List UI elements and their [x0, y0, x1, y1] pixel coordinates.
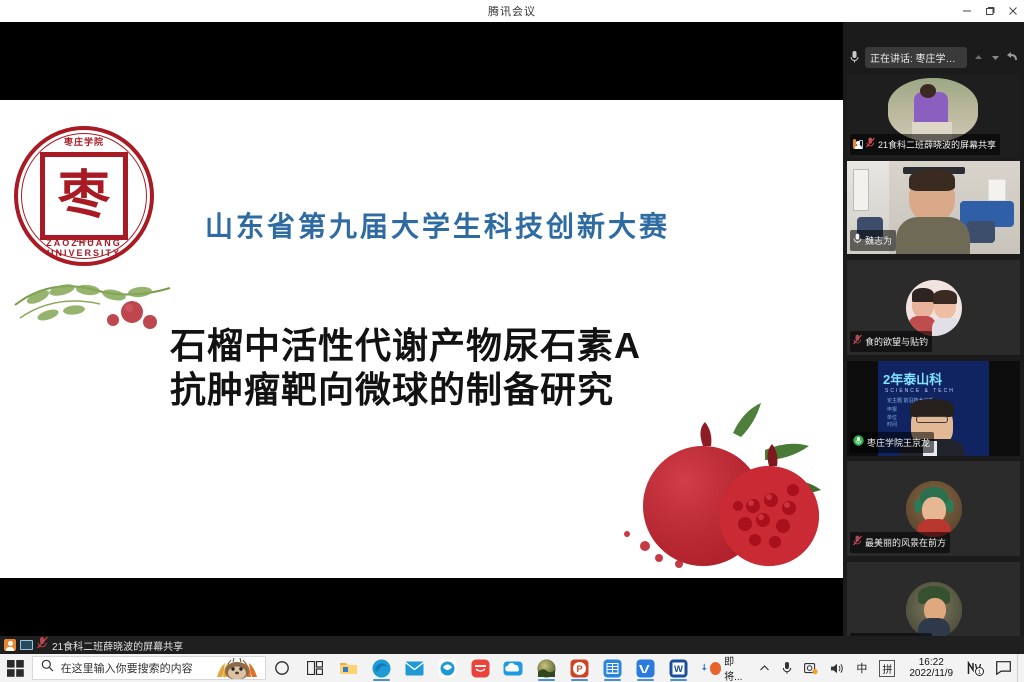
logo-text-top: 枣庄学院	[14, 135, 154, 148]
download-text: 即将...	[724, 653, 747, 682]
search-input[interactable]: 在这里输入你要搜索的内容	[32, 656, 266, 680]
ime-pinyin-label: 拼	[879, 660, 895, 677]
system-tray: 即将... 中 拼 16:22 2022/11/9 1	[695, 654, 1024, 682]
mic-icon	[847, 49, 861, 65]
minimize-button[interactable]	[955, 0, 978, 22]
task-view-icon[interactable]	[266, 654, 299, 682]
screenshot-icon[interactable]	[798, 654, 824, 682]
slide-title-line1: 石榴中活性代谢产物尿石素A	[170, 324, 820, 368]
participant-tile[interactable]: 魏志为	[847, 161, 1020, 254]
word-icon[interactable]: W	[662, 654, 695, 682]
participant-tile[interactable]: 21食科二班薛晓波的屏幕共享	[847, 74, 1020, 158]
undo-arrow-icon[interactable]	[1005, 49, 1020, 65]
mic-muted-icon	[37, 636, 48, 654]
clock[interactable]: 16:22 2022/11/9	[901, 657, 961, 680]
tile-label: 食的欲望与贴钓	[850, 331, 932, 352]
window-titlebar: 腾讯会议	[0, 0, 1024, 22]
powerpoint-icon[interactable]: P	[563, 654, 596, 682]
mic-active-icon	[853, 433, 864, 451]
file-explorer-icon[interactable]	[332, 654, 365, 682]
widgets-icon[interactable]	[299, 654, 332, 682]
wps-office-icon[interactable]	[464, 654, 497, 682]
university-logo-icon: 枣庄学院 枣 1971 ZAOZHUANG UNIVERSITY	[14, 126, 154, 266]
user-icon	[4, 639, 16, 651]
start-button[interactable]	[0, 654, 32, 682]
ime-mode-indicator[interactable]: 中	[850, 654, 873, 682]
tile-name: 枣庄学院王京龙	[867, 436, 930, 449]
search-mascot-icon	[215, 656, 259, 680]
wreath-decoration-icon	[10, 260, 175, 340]
participant-rail: 正在讲话: 枣庄学院王京龙	[843, 22, 1024, 636]
taskbar: 在这里输入你要搜索的内容	[0, 654, 1024, 682]
svg-text:W: W	[674, 664, 683, 675]
meeting-window: 枣庄学院 枣 1971 ZAOZHUANG UNIVERSITY	[0, 22, 1024, 636]
active-speaker-label: 正在讲话: 枣庄学院王京龙	[865, 47, 967, 68]
excel-icon[interactable]	[596, 654, 629, 682]
tile-label: 枣庄学院王京龙	[850, 432, 934, 453]
avatar	[906, 280, 962, 336]
mic-icon	[853, 231, 862, 249]
active-speaker-bar: 正在讲话: 枣庄学院王京龙	[843, 44, 1024, 70]
logo-glyph: 枣	[58, 170, 110, 222]
download-arrow-icon	[701, 662, 708, 674]
microsoft-edge-icon[interactable]	[365, 654, 398, 682]
slide-subtitle: 山东省第九届大学生科技创新大赛	[205, 205, 805, 245]
download-badge-icon	[710, 662, 721, 675]
avatar	[906, 481, 962, 537]
clock-time: 16:22	[909, 657, 953, 669]
mic-muted-icon	[853, 533, 862, 551]
mail-icon[interactable]	[398, 654, 431, 682]
avatar	[906, 582, 962, 637]
rail-nav-controls	[971, 49, 1020, 65]
show-desktop-button[interactable]	[1017, 654, 1024, 682]
clock-date: 2022/11/9	[909, 668, 953, 680]
participant-tile[interactable]: 2年泰山科 SCIENCE & TECH 论主题 前沿技术创新 申报单位时间 泰…	[847, 361, 1020, 456]
browser-360-icon[interactable]	[431, 654, 464, 682]
maximize-button[interactable]	[978, 0, 1001, 22]
search-placeholder: 在这里输入你要搜索的内容	[61, 660, 193, 676]
participant-tile[interactable]: 最美丽的风景在前方	[847, 461, 1020, 556]
pomegranate-illustration-icon	[583, 388, 833, 578]
chevron-up-icon[interactable]	[971, 49, 986, 65]
photos-icon[interactable]	[530, 654, 563, 682]
chevron-up-icon[interactable]	[753, 654, 776, 682]
mic-icon[interactable]	[776, 654, 798, 682]
tile-video	[847, 562, 1020, 636]
notification-icon[interactable]: 1	[961, 654, 990, 682]
chevron-down-icon[interactable]	[988, 49, 1003, 65]
window-title: 腾讯会议	[69, 3, 955, 19]
mic-muted-icon	[853, 332, 862, 350]
tile-label: 21食科二班薛晓波的屏幕共享	[850, 134, 1000, 155]
ime-pinyin-indicator[interactable]: 拼	[873, 654, 901, 682]
shared-screen-area[interactable]: 枣庄学院 枣 1971 ZAOZHUANG UNIVERSITY	[0, 22, 843, 636]
tile-name: 21食科二班薛晓波的屏幕共享	[878, 138, 996, 151]
screen: 腾讯会议 枣庄学院 枣 1971	[0, 0, 1024, 682]
tile-label: 最美丽的风景在前方	[850, 532, 950, 553]
speaker-icon[interactable]	[824, 654, 850, 682]
screen-share-banner[interactable]: 21食科二班薛晓波的屏幕共享	[0, 636, 1024, 654]
window-controls	[955, 0, 1024, 22]
mic-muted-icon	[866, 135, 875, 153]
participant-tile[interactable]: 食的欲望与贴钓	[847, 260, 1020, 355]
logo-text-bottom: ZAOZHUANG UNIVERSITY	[14, 238, 154, 258]
close-button[interactable]	[1001, 0, 1024, 22]
tile-name: 最美丽的风景在前方	[865, 536, 946, 549]
action-center-icon[interactable]	[990, 654, 1017, 682]
tile-name: 魏志为	[865, 234, 892, 247]
screen-share-banner-label: 21食科二班薛晓波的屏幕共享	[52, 638, 183, 653]
onedrive-icon[interactable]	[497, 654, 530, 682]
screen-share-icon	[20, 640, 33, 650]
download-indicator[interactable]: 即将...	[695, 654, 753, 682]
tile-name: 食的欲望与贴钓	[865, 335, 928, 348]
participant-tile[interactable]: 食安二班余思奇	[847, 562, 1020, 636]
svg-text:P: P	[576, 664, 582, 674]
tile-label: 魏志为	[850, 230, 896, 251]
search-icon	[41, 659, 54, 677]
tencent-meeting-icon[interactable]	[629, 654, 662, 682]
presentation-slide: 枣庄学院 枣 1971 ZAOZHUANG UNIVERSITY	[0, 100, 843, 578]
user-icon	[853, 139, 856, 149]
